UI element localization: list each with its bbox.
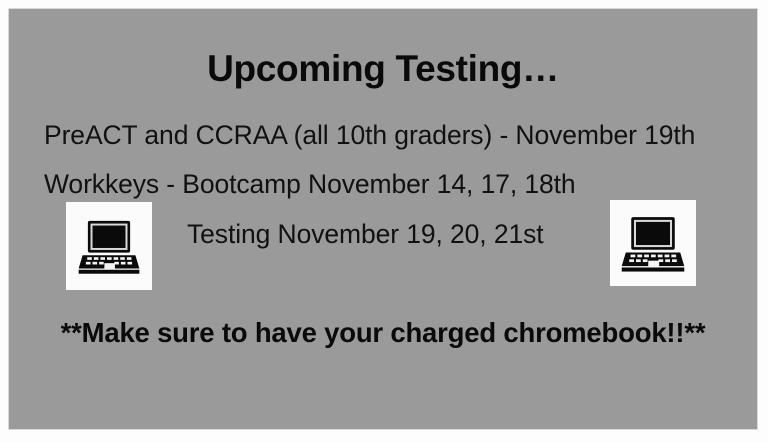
slide-frame: Upcoming Testing… PreACT and CCRAA (all … <box>0 0 768 442</box>
laptop-icon <box>619 209 687 277</box>
slide-panel: Upcoming Testing… PreACT and CCRAA (all … <box>9 9 757 429</box>
testing-line-preact: PreACT and CCRAA (all 10th graders) - No… <box>44 119 695 151</box>
testing-line-dates: Testing November 19, 20, 21st <box>187 218 544 250</box>
testing-line-workkeys: Workkeys - Bootcamp November 14, 17, 18t… <box>44 168 576 200</box>
laptop-icon <box>76 213 142 279</box>
chromebook-reminder: **Make sure to have your charged chromeb… <box>9 316 757 350</box>
laptop-icon-tile-right <box>610 200 696 286</box>
page-title: Upcoming Testing… <box>9 47 757 91</box>
laptop-icon-tile-left <box>66 202 152 290</box>
